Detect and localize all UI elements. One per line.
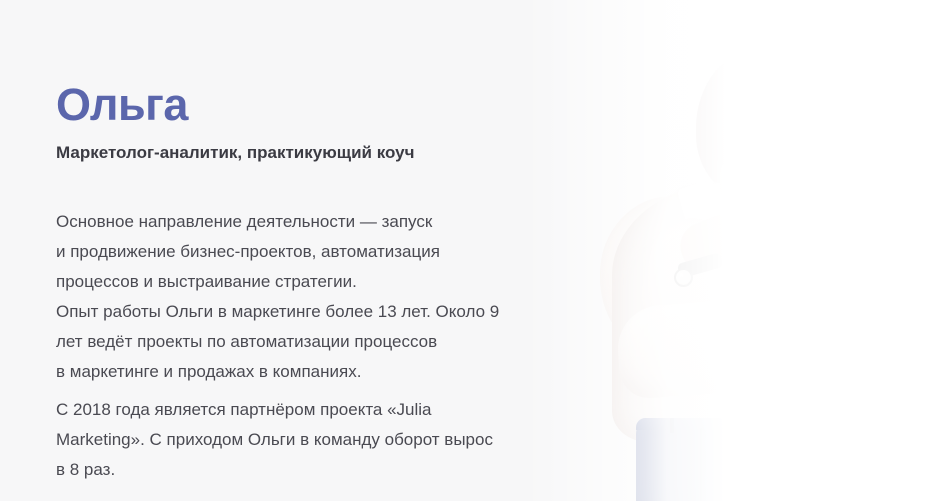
profile-text-column: Ольга Маркетолог-аналитик, практикующий …	[56, 0, 526, 501]
portrait-photo	[524, 0, 944, 501]
profile-paragraph-1: Основное направление деятельности — запу…	[56, 207, 499, 387]
profile-role: Маркетолог-аналитик, практикующий коуч	[56, 141, 414, 165]
profile-page: Ольга Маркетолог-аналитик, практикующий …	[0, 0, 944, 501]
photo-fade-overlay	[524, 0, 944, 501]
page-title: Ольга	[56, 80, 188, 130]
profile-paragraph-2: С 2018 года является партнёром проекта «…	[56, 395, 493, 485]
